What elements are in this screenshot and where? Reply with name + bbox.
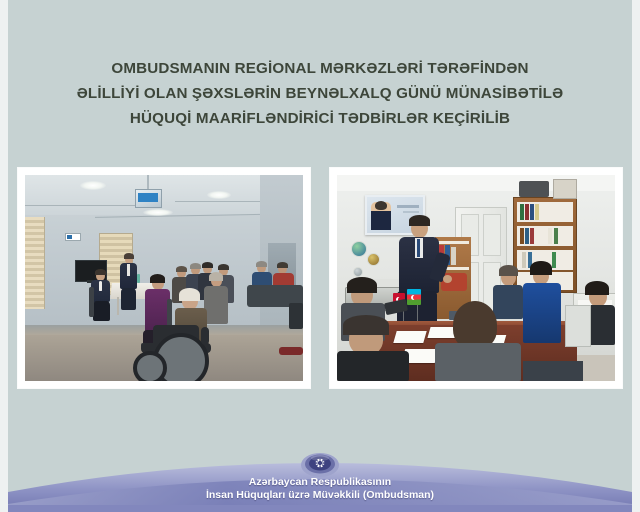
page-title: OMBUDSMANIN REGİONAL MƏRKƏZLƏRİ TƏRƏFİND… [8, 56, 632, 131]
ombudsman-emblem-icon [300, 452, 340, 478]
footer-banner: Azərbaycan Respublikasının İnsan Hüquqla… [8, 448, 632, 512]
wall-plate [367, 253, 380, 266]
photo-right-image [337, 175, 615, 381]
document [393, 331, 426, 343]
wall-plate [351, 241, 367, 257]
card-canvas: OMBUDSMANIN REGİONAL MƏRKƏZLƏRİ TƏRƏFİND… [8, 0, 632, 512]
news-card: OMBUDSMANIN REGİONAL MƏRKƏZLƏRİ TƏRƏFİND… [0, 0, 640, 512]
wheelchair-wheel [133, 351, 167, 381]
footer-line-2: İnsan Hüquqları üzrə Müvəkkili (Ombudsma… [8, 489, 632, 502]
photo-left-image [25, 175, 303, 381]
wall-plate [353, 267, 363, 277]
flag-azerbaijan [407, 289, 421, 305]
page-title-line-3: HÜQUQİ MAARİFLƏNDİRİCİ TƏDBİRLƏR KEÇİRİL… [18, 106, 622, 131]
photo-right-frame [330, 168, 622, 388]
footer-line-1: Azərbaycan Respublikasının [8, 476, 632, 489]
page-title-line-2: ƏLİLLİYİ OLAN ŞƏXSLƏRİN BEYNƏLXALQ GÜNÜ … [18, 81, 622, 106]
projector-icon [135, 189, 162, 208]
footer-text: Azərbaycan Respublikasının İnsan Hüquqla… [8, 476, 632, 502]
page-title-line-1: OMBUDSMANIN REGİONAL MƏRKƏZLƏRİ TƏRƏFİND… [18, 56, 622, 81]
photo-left-frame [18, 168, 310, 388]
